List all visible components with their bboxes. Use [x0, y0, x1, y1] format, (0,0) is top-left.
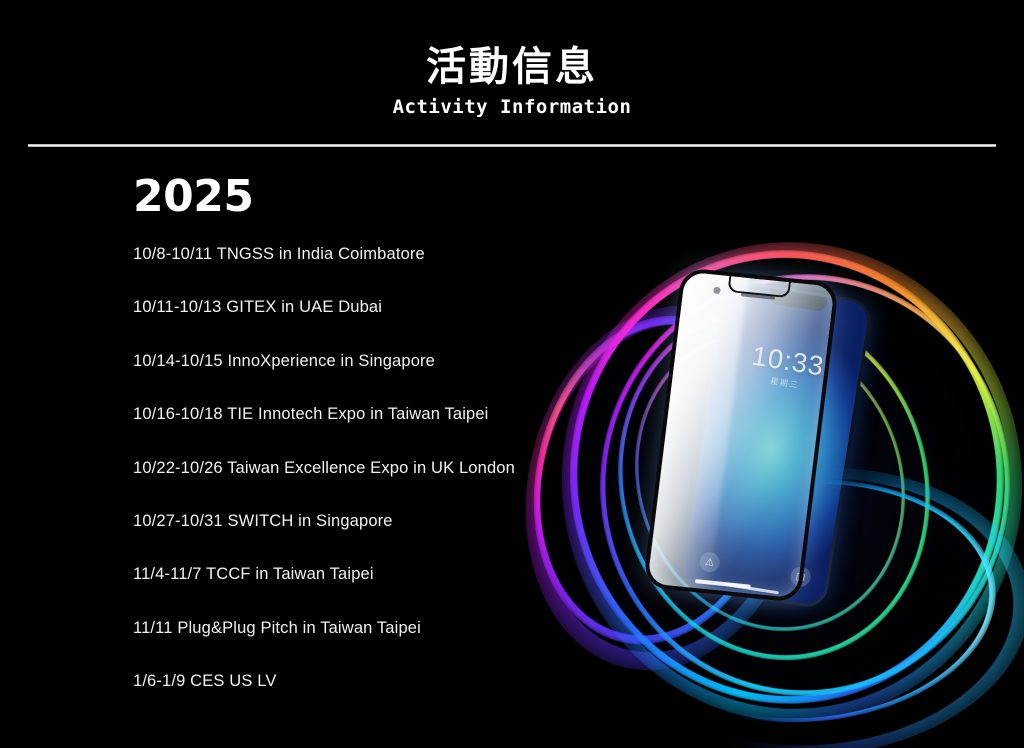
activity-information-slide: 活動信息 Activity Information 2025 10/8-10/1… — [0, 0, 1024, 748]
event-list-item: 10/8-10/11 TNGSS in India Coimbatore — [133, 245, 553, 298]
event-list-item: 1/6-1/9 CES US LV — [133, 672, 553, 725]
header-divider — [28, 144, 996, 147]
event-list-item: 11/11 Plug&Plug Pitch in Taiwan Taipei — [133, 619, 553, 672]
page-title-chinese: 活動信息 — [0, 0, 1024, 90]
page-title-english: Activity Information — [0, 90, 1024, 118]
event-list-item: 10/27-10/31 SWITCH in Singapore — [133, 512, 553, 565]
product-visual: 10:33 星期三 ⚠ ▢ — [528, 230, 1024, 730]
event-list-item: 10/14-10/15 InnoXperience in Singapore — [133, 352, 553, 405]
event-list-item: 10/16-10/18 TIE Innotech Expo in Taiwan … — [133, 405, 553, 458]
event-list-item: 10/11-10/13 GITEX in UAE Dubai — [133, 298, 553, 351]
page-header: 活動信息 Activity Information — [0, 0, 1024, 118]
event-list-item: 10/22-10/26 Taiwan Excellence Expo in UK… — [133, 459, 553, 512]
event-list: 10/8-10/11 TNGSS in India Coimbatore 10/… — [133, 245, 553, 726]
year-heading: 2025 — [133, 175, 253, 219]
event-list-item: 11/4-11/7 TCCF in Taiwan Taipei — [133, 565, 553, 618]
